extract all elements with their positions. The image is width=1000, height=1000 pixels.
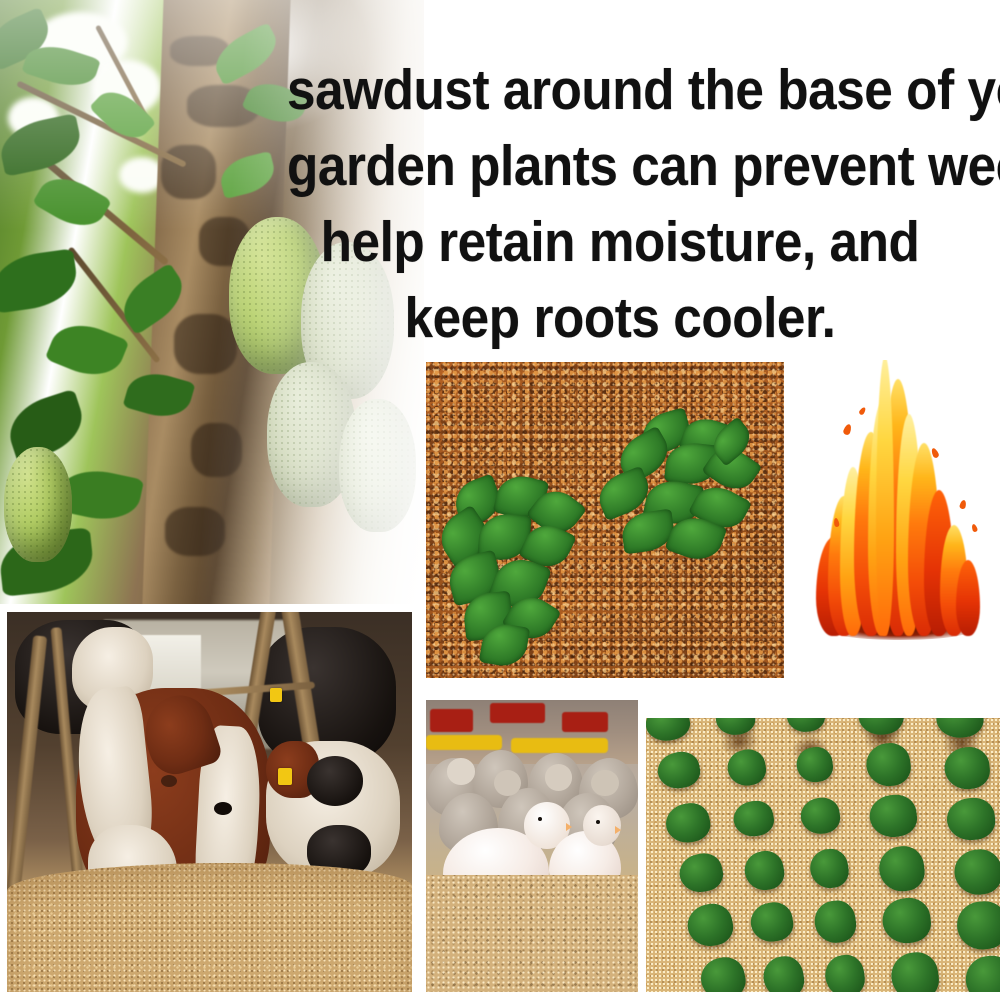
strawberry-plant-left	[440, 476, 590, 666]
poster-canvas: sawdust around the base of your garden p…	[0, 0, 1000, 1000]
ember-spark	[858, 406, 867, 415]
chick-beak	[615, 826, 621, 834]
flame	[956, 560, 980, 636]
cow-ear-tag-yellow	[270, 688, 282, 702]
photo-jackfruit-tree	[0, 0, 424, 604]
feeder-equipment-red	[490, 703, 545, 723]
chick-eye	[596, 820, 600, 824]
feeder-equipment-yellow	[511, 738, 609, 753]
photo-sawdust-mulched-crop-rows	[646, 718, 1000, 992]
photo-fire-flames	[800, 360, 1000, 652]
jackfruit-right-fade	[0, 0, 424, 604]
sawdust-bedding	[7, 863, 412, 992]
feeder-equipment-red	[562, 712, 609, 732]
photo-sawdust-mulch-strawberries	[426, 362, 784, 678]
cow-ear-tag-yellow	[278, 768, 292, 785]
sawdust-litter	[426, 875, 638, 992]
strawberry-plant-right	[591, 413, 763, 584]
ember-spark	[959, 500, 967, 510]
photo-cows-on-sawdust-bedding	[7, 612, 412, 992]
feeder-equipment-red	[430, 709, 472, 732]
cow-muzzle-dark	[307, 756, 364, 805]
chick-head	[447, 758, 475, 784]
feeder-equipment-yellow	[426, 735, 502, 750]
ember-spark	[971, 523, 978, 532]
chick-head	[545, 764, 573, 790]
photo-chicks-on-sawdust-litter	[426, 700, 638, 992]
chick-head	[591, 770, 619, 796]
ember-spark	[842, 423, 852, 436]
cow-eye	[214, 802, 232, 815]
chick-beak	[566, 823, 572, 831]
